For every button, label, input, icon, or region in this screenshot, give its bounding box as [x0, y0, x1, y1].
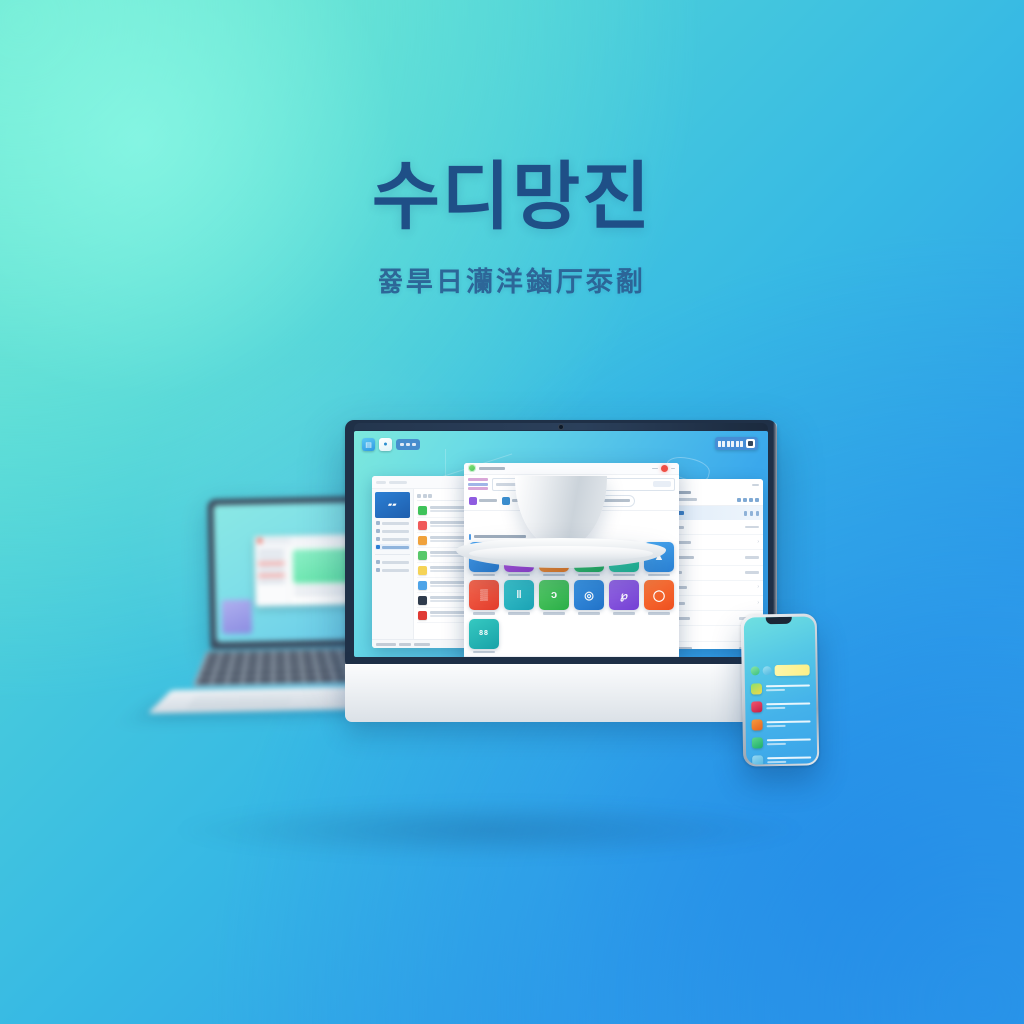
system-tray[interactable] — [715, 437, 759, 450]
file-type-icon — [418, 521, 427, 530]
list-item-icon — [751, 719, 762, 730]
list-item[interactable] — [751, 718, 810, 730]
app-icon[interactable]: ◎ — [574, 580, 604, 610]
sidebar-item-active[interactable] — [375, 544, 410, 550]
list-item[interactable] — [258, 580, 285, 584]
chevron-right-icon[interactable]: › — [757, 585, 759, 590]
search-input[interactable] — [774, 664, 809, 676]
list-item[interactable] — [258, 574, 285, 578]
minimize-icon[interactable] — [752, 484, 759, 486]
phone-notch — [766, 616, 792, 623]
app-label — [648, 612, 670, 614]
browser-icon[interactable]: ● — [379, 438, 392, 451]
category-tabs[interactable] — [468, 478, 488, 490]
section-accent — [469, 534, 471, 540]
app-label — [613, 612, 635, 614]
taskbar-icon[interactable] — [544, 656, 553, 657]
list-item-meta — [745, 556, 759, 559]
more-icon[interactable] — [671, 468, 675, 470]
avatar[interactable] — [750, 666, 759, 675]
list-item-meta — [745, 571, 759, 574]
list-item-label — [767, 756, 811, 763]
app-icon[interactable]: ▒ — [469, 580, 499, 610]
app-label — [578, 612, 600, 614]
list-item-label — [766, 720, 810, 727]
list-item-icon — [751, 701, 762, 712]
phone-frame — [741, 613, 820, 766]
list-item[interactable] — [258, 568, 285, 572]
toolbar-icon — [469, 497, 477, 505]
list-item[interactable] — [751, 700, 810, 712]
list-item[interactable] — [751, 736, 810, 748]
monitor-chin — [345, 664, 777, 722]
taskbar-icon[interactable] — [504, 656, 513, 657]
list-item[interactable] — [258, 556, 285, 560]
news-feed: ▤ — [464, 656, 679, 657]
app-label — [508, 612, 530, 614]
device-showcase: ▤ ● — [0, 0, 1024, 1024]
list-item-icon — [750, 683, 761, 694]
toolbar-label — [479, 499, 497, 502]
app-icon[interactable]: 88 — [469, 619, 499, 649]
widget-bar — [412, 443, 416, 446]
file-type-icon — [418, 596, 427, 605]
app-label — [648, 574, 670, 576]
app-tile-12[interactable]: ◯ — [644, 580, 674, 614]
search-button[interactable] — [653, 481, 671, 487]
sidebar-item[interactable] — [375, 528, 410, 534]
taskbar-icon[interactable] — [480, 656, 489, 657]
taskbar-icon[interactable] — [556, 656, 565, 657]
sidebar-item[interactable] — [375, 536, 410, 542]
sidebar[interactable]: ▰▰ — [372, 489, 414, 639]
laptop-bg-panel — [222, 599, 253, 634]
chevron-right-icon[interactable]: › — [757, 601, 759, 606]
divider — [375, 554, 410, 555]
app-label — [578, 574, 600, 576]
app-tile-7[interactable]: ▒ — [469, 580, 499, 614]
file-type-icon — [418, 581, 427, 590]
app-label — [543, 612, 565, 614]
taskbar-icon[interactable] — [568, 656, 577, 657]
phone-screen — [743, 616, 817, 764]
toolbar-item[interactable] — [469, 497, 497, 505]
trackpad[interactable] — [186, 693, 292, 709]
phone-device — [741, 613, 820, 766]
app-tile-9[interactable]: ɔ — [539, 580, 569, 614]
app-label — [508, 574, 530, 576]
avatar-secondary[interactable] — [762, 666, 771, 675]
webcam-icon — [558, 424, 564, 430]
file-type-icon — [418, 506, 427, 515]
list-item-meta — [745, 526, 759, 529]
monitor-device: ▤ ● — [345, 420, 777, 722]
taskbar-label — [516, 656, 529, 657]
list-item-icon — [751, 737, 762, 748]
list-item[interactable] — [257, 550, 284, 554]
app-icon[interactable]: ‖ — [504, 580, 534, 610]
app-icon[interactable]: ℘ — [609, 580, 639, 610]
app-tile-8[interactable]: ‖ — [504, 580, 534, 614]
app-icon[interactable]: ◯ — [644, 580, 674, 610]
file-type-icon — [418, 611, 427, 620]
app-logo-icon — [468, 464, 476, 472]
taskbar-icon[interactable] — [492, 656, 501, 657]
window-titlebar[interactable] — [464, 463, 679, 475]
app-icon[interactable]: ɔ — [539, 580, 569, 610]
app-tile-11[interactable]: ℘ — [609, 580, 639, 614]
phone-list — [750, 682, 810, 764]
toolbar-icon — [502, 497, 510, 505]
chevron-right-icon[interactable]: › — [757, 540, 759, 545]
header-actions[interactable] — [737, 498, 759, 502]
back-icon[interactable] — [376, 481, 386, 484]
close-icon[interactable] — [661, 465, 668, 472]
taskbar[interactable] — [464, 656, 679, 657]
list-item-label — [765, 684, 809, 691]
widget-bar — [406, 443, 410, 446]
widget-bar — [400, 443, 404, 446]
file-type-icon — [418, 566, 427, 575]
app-tile-13[interactable]: 88 — [469, 619, 499, 653]
minimize-icon[interactable] — [652, 468, 658, 470]
laptop-window-title — [264, 539, 290, 543]
app-label — [613, 574, 635, 576]
desktop-widget[interactable] — [396, 439, 420, 450]
laptop-window-sidebar[interactable] — [254, 546, 289, 607]
folder-icon[interactable]: ▤ — [362, 438, 375, 451]
app-label — [473, 651, 495, 653]
file-type-icon — [418, 551, 427, 560]
desktop-shortcuts: ▤ ● — [362, 438, 420, 451]
sidebar-item[interactable] — [375, 520, 410, 526]
taskbar-icon[interactable] — [468, 656, 477, 657]
tray-app-icon[interactable] — [746, 439, 755, 448]
list-item-label — [766, 702, 810, 709]
text-line — [293, 591, 347, 595]
app-label — [543, 574, 565, 576]
sidebar-item[interactable] — [375, 559, 410, 565]
window-title — [479, 467, 505, 470]
app-label — [473, 574, 495, 576]
section-label — [474, 535, 526, 538]
app-label — [473, 612, 495, 614]
window-title — [389, 481, 407, 484]
section-actions[interactable] — [744, 511, 760, 516]
tray-glyphs — [718, 441, 744, 447]
list-item[interactable] — [258, 562, 285, 566]
taskbar-icon[interactable] — [532, 656, 541, 657]
phone-search-bar[interactable] — [750, 664, 809, 677]
list-item-label — [766, 738, 810, 745]
sidebar-banner[interactable]: ▰▰ — [375, 492, 410, 518]
app-tile-10[interactable]: ◎ — [574, 580, 604, 614]
close-icon[interactable] — [257, 538, 262, 543]
sidebar-item[interactable] — [375, 567, 410, 573]
file-type-icon — [418, 536, 427, 545]
list-item[interactable] — [750, 682, 809, 694]
list-item[interactable] — [752, 754, 811, 764]
list-item-icon — [752, 755, 763, 764]
